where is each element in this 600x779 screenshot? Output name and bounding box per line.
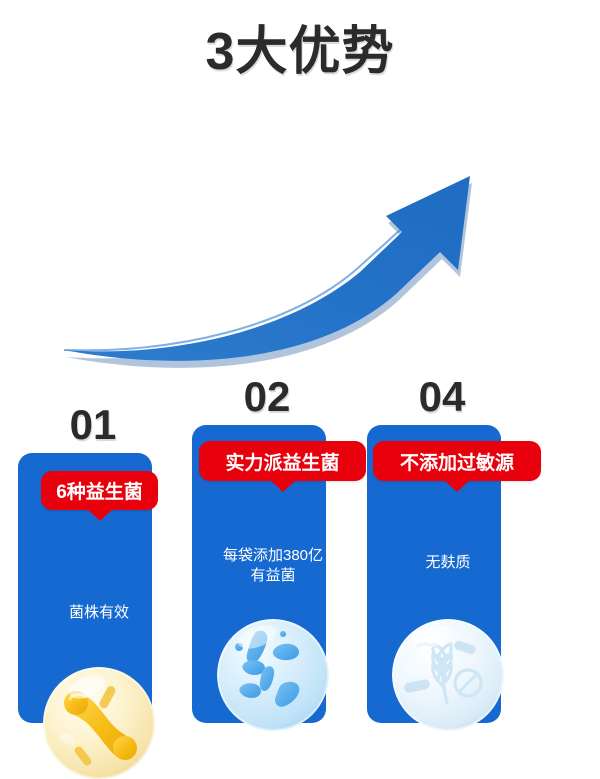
advantage-card-01[interactable]: 01 6种益生菌 菌株有效 bbox=[4, 370, 182, 774]
page-title: 3大优势 bbox=[0, 24, 600, 81]
card-subtext-04: 无麸质 bbox=[381, 553, 515, 573]
yellow-dumbbell-bacteria-circle-icon bbox=[43, 667, 155, 779]
card-banner-04: 不添加过敏源 bbox=[373, 441, 541, 481]
card-subtext-02: 每袋添加380亿 有益菌 bbox=[206, 546, 340, 587]
blue-rod-bacteria-circle-icon bbox=[217, 619, 329, 731]
advantage-card-04[interactable]: 04 不添加过敏源 无麸质 bbox=[353, 370, 531, 774]
card-banner-02: 实力派益生菌 bbox=[199, 441, 366, 481]
card-subtext-01: 菌株有效 bbox=[32, 603, 166, 623]
card-number-02: 02 bbox=[178, 376, 356, 418]
advantage-card-02[interactable]: 02 实力派益生菌 每袋添加380亿 有益菌 bbox=[178, 370, 356, 774]
gluten-free-wheat-circle-icon bbox=[392, 619, 504, 731]
card-panel-04: 不添加过敏源 无麸质 bbox=[367, 425, 501, 723]
card-panel-02: 实力派益生菌 每袋添加380亿 有益菌 bbox=[192, 425, 326, 723]
card-panel-01: 6种益生菌 菌株有效 bbox=[18, 453, 152, 723]
promo-page: 3大优势 01 6种益生菌 bbox=[0, 0, 600, 774]
card-number-04: 04 bbox=[353, 376, 531, 418]
advantage-cards: 01 6种益生菌 菌株有效 bbox=[0, 370, 600, 774]
curved-upward-arrow-icon bbox=[50, 158, 520, 368]
card-number-01: 01 bbox=[4, 404, 182, 446]
card-banner-01: 6种益生菌 bbox=[41, 471, 158, 510]
